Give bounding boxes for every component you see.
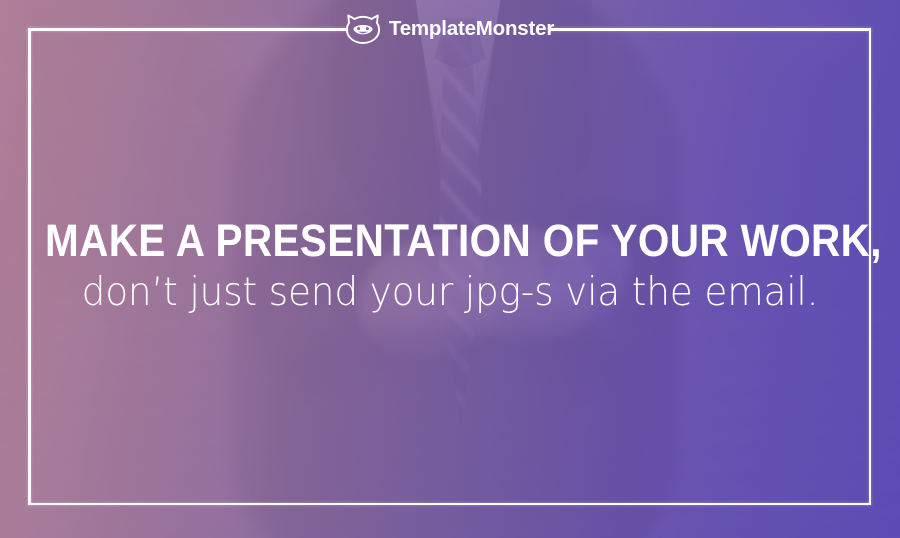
headline-primary: MAKE A PRESENTATION OF YOUR WORK, [45, 218, 855, 263]
monster-face-icon [346, 14, 380, 45]
brand-name: TemplateMonster [389, 19, 554, 40]
promo-banner: TemplateMonster MAKE A PRESENTATION OF Y… [0, 0, 900, 538]
brand-logo[interactable]: TemplateMonster [0, 12, 900, 46]
headline-secondary: don’t just send your jpg-s via the email… [18, 271, 882, 315]
headline-block: MAKE A PRESENTATION OF YOUR WORK, don’t … [0, 218, 900, 315]
